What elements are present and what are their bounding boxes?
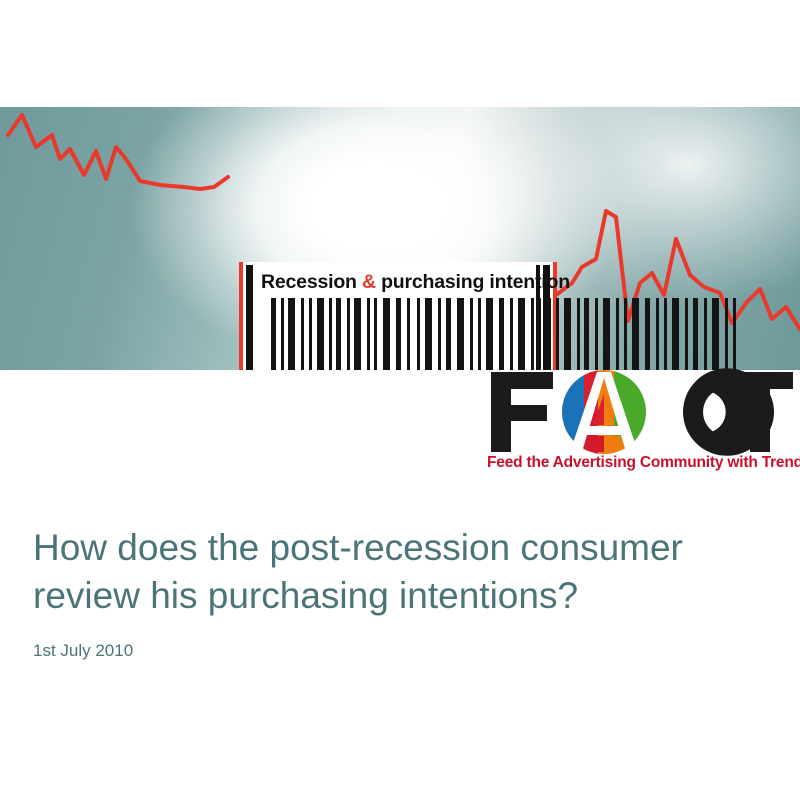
fact-tagline: Feed the Advertising Community with Tren… [487, 454, 797, 472]
barcode-bar [347, 298, 350, 370]
barcode-bar [733, 298, 736, 370]
barcode-bar [556, 298, 559, 370]
barcode-bar [725, 298, 728, 370]
barcode-guard-bar-left [246, 265, 253, 370]
barcode-bar [486, 298, 493, 370]
barcode-bar [271, 298, 276, 370]
banner-image: Recession & purchasing intention [0, 107, 800, 370]
barcode-bar [383, 298, 390, 370]
logo-letter-f [491, 372, 553, 452]
barcode-bar [672, 298, 679, 370]
barcode-bar [577, 298, 580, 370]
barcode-bar [645, 298, 650, 370]
barcode-bar [354, 298, 361, 370]
barcode-caption-before: Recession [261, 271, 362, 293]
fact-wordmark [487, 368, 797, 456]
barcode-bar [329, 298, 332, 370]
barcode-bar [518, 298, 525, 370]
barcode-bar [417, 298, 420, 370]
barcode-bar [446, 298, 451, 370]
barcode-bar [531, 298, 534, 370]
trendline-left-polyline [8, 115, 228, 189]
barcode-guard-bar-right [543, 265, 550, 370]
barcode-bar [367, 298, 370, 370]
barcode-bar [336, 298, 341, 370]
barcode-bar [624, 298, 627, 370]
fact-logo: Feed the Advertising Community with Tren… [487, 368, 797, 480]
barcode-bar [288, 298, 295, 370]
barcode-bar [374, 298, 377, 370]
barcode-bar [603, 298, 610, 370]
barcode-bar [396, 298, 401, 370]
barcode-bar [457, 298, 464, 370]
barcode-bar [317, 298, 324, 370]
barcode-bar [309, 298, 312, 370]
barcode-bar [632, 298, 639, 370]
barcode-bar [407, 298, 410, 370]
barcode-caption-ampersand: & [362, 271, 376, 293]
slide-date: 1st July 2010 [33, 641, 763, 661]
barcode-bar [693, 298, 698, 370]
barcode-bar [656, 298, 659, 370]
barcode-caption: Recession & purchasing intention [261, 268, 535, 296]
barcode-bar [564, 298, 571, 370]
barcode-bar [301, 298, 304, 370]
barcode-bar [664, 298, 667, 370]
barcode-graphic: Recession & purchasing intention [243, 262, 553, 370]
barcode-caption-after: purchasing intention [376, 271, 570, 293]
barcode-bar [478, 298, 481, 370]
barcode-bar [438, 298, 441, 370]
page-title: How does the post-recession consumer rev… [33, 524, 763, 620]
barcode-bar [470, 298, 473, 370]
barcode-bar [685, 298, 688, 370]
barcode-guard-bar-right-inner [536, 265, 540, 370]
barcode-bar [499, 298, 504, 370]
title-block: How does the post-recession consumer rev… [33, 524, 763, 661]
barcode-bar [281, 298, 284, 370]
barcode-bar [425, 298, 432, 370]
barcode-bars [257, 298, 539, 370]
logo-letter-a-emblem [562, 370, 646, 454]
barcode-bar [584, 298, 589, 370]
barcode-bar [704, 298, 707, 370]
barcode-bar [712, 298, 719, 370]
barcode-bar [595, 298, 598, 370]
barcode-bar [510, 298, 513, 370]
barcode-left-red-edge [239, 262, 243, 370]
barcode-bar [616, 298, 619, 370]
